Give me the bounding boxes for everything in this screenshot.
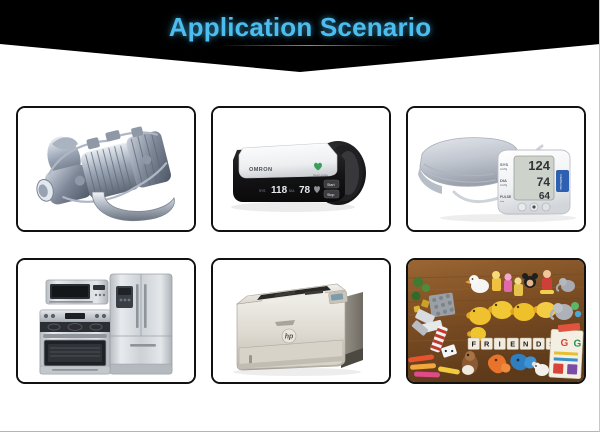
page-title: Application Scenario: [0, 12, 600, 43]
svg-text:heart guide: heart guide: [313, 173, 328, 177]
svg-text:118: 118: [271, 185, 288, 196]
svg-text:I: I: [499, 340, 501, 349]
blood-pressure-monitor-with-cuff-image: SYS mmHg DIA mmHg PULSE /min 124 74 64: [408, 108, 584, 230]
scenario-tile-toys-and-letter-tiles[interactable]: F R I E: [406, 258, 586, 384]
scenario-tile-omron-blood-pressure-monitor[interactable]: OMRON heart guide SYS 118 DIA 78: [211, 106, 391, 232]
gas-turbine-engine-image: [18, 108, 194, 230]
svg-text:Start: Start: [327, 183, 335, 187]
svg-text:F: F: [471, 340, 476, 349]
scenario-tile-grid: OMRON heart guide SYS 118 DIA 78: [16, 106, 586, 384]
toys-and-letter-tiles-image: F R I E: [408, 260, 584, 382]
svg-text:OMRON: OMRON: [249, 167, 272, 173]
scenario-tile-stainless-kitchen-appliances[interactable]: [16, 258, 196, 384]
svg-text:N: N: [523, 340, 528, 349]
svg-text:78: 78: [299, 185, 311, 196]
scenario-tile-blood-pressure-monitor-with-cuff[interactable]: SYS mmHg DIA mmHg PULSE /min 124 74 64: [406, 106, 586, 232]
svg-text:SYS: SYS: [259, 189, 265, 193]
slide-root: Application Scenario: [0, 0, 600, 432]
svg-text:R: R: [484, 340, 490, 349]
svg-text:G: G: [560, 338, 569, 349]
svg-text:hp: hp: [285, 334, 294, 341]
svg-text:64: 64: [539, 191, 551, 202]
svg-text:mmHg: mmHg: [500, 168, 508, 171]
svg-text:D: D: [536, 340, 542, 349]
svg-text:124: 124: [528, 158, 550, 173]
scenario-tile-hp-laser-printer[interactable]: hp LaserJet P3015: [211, 258, 391, 384]
scenario-tile-gas-turbine-engine[interactable]: [16, 106, 196, 232]
stainless-kitchen-appliances-image: [18, 260, 194, 382]
svg-text:E: E: [510, 340, 515, 349]
svg-text:PULSE: PULSE: [500, 195, 512, 199]
title-underline-decoration: [220, 45, 400, 46]
svg-text:DIA: DIA: [500, 178, 507, 183]
svg-text:DIA: DIA: [289, 189, 295, 193]
svg-text:74: 74: [537, 175, 551, 189]
svg-text:mmHg: mmHg: [500, 184, 508, 187]
omron-blood-pressure-monitor-image: OMRON heart guide SYS 118 DIA 78: [213, 108, 389, 230]
svg-text:SYS: SYS: [500, 162, 508, 167]
hp-laser-printer-image: hp LaserJet P3015: [213, 260, 389, 382]
svg-text:G: G: [573, 338, 582, 349]
svg-text:Stop: Stop: [327, 193, 334, 197]
svg-text:IntelliSense: IntelliSense: [559, 174, 563, 190]
